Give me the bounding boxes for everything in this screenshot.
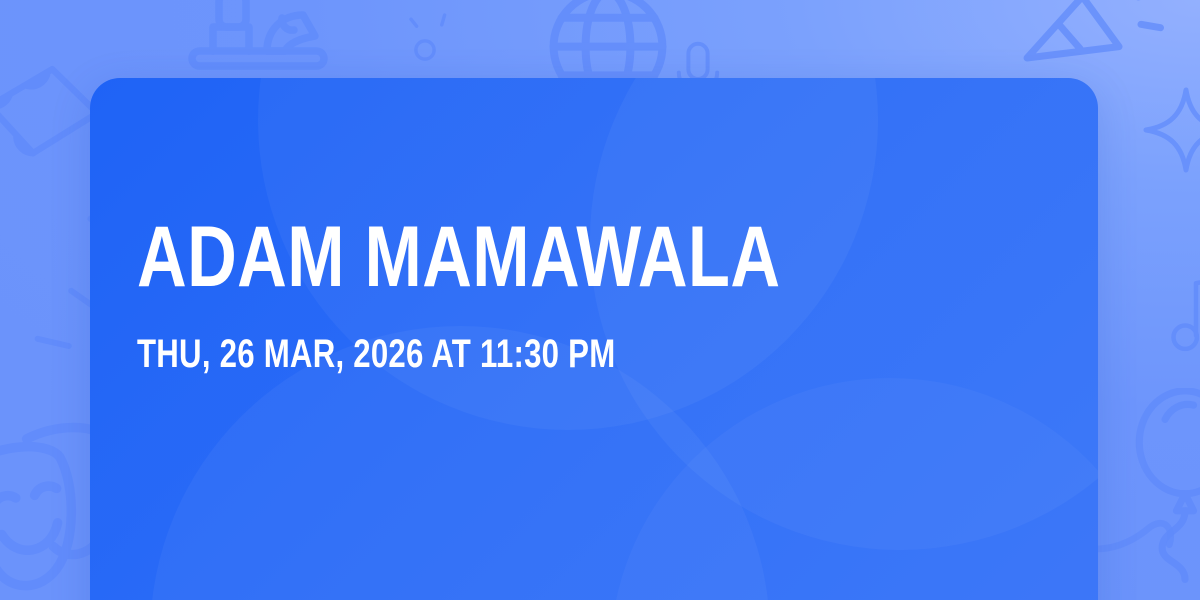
sparkle-icon xyxy=(1136,80,1200,180)
event-card[interactable]: Adam Mamawala Thu, 26 Mar, 2026 at 11:30… xyxy=(90,78,1098,600)
music-note-icon xyxy=(1160,262,1200,362)
event-datetime: Thu, 26 Mar, 2026 at 11:30 PM xyxy=(137,334,839,374)
card-content: Adam Mamawala Thu, 26 Mar, 2026 at 11:30… xyxy=(137,78,1037,600)
event-title: Adam Mamawala xyxy=(137,214,857,300)
confetti-icon xyxy=(390,8,460,78)
